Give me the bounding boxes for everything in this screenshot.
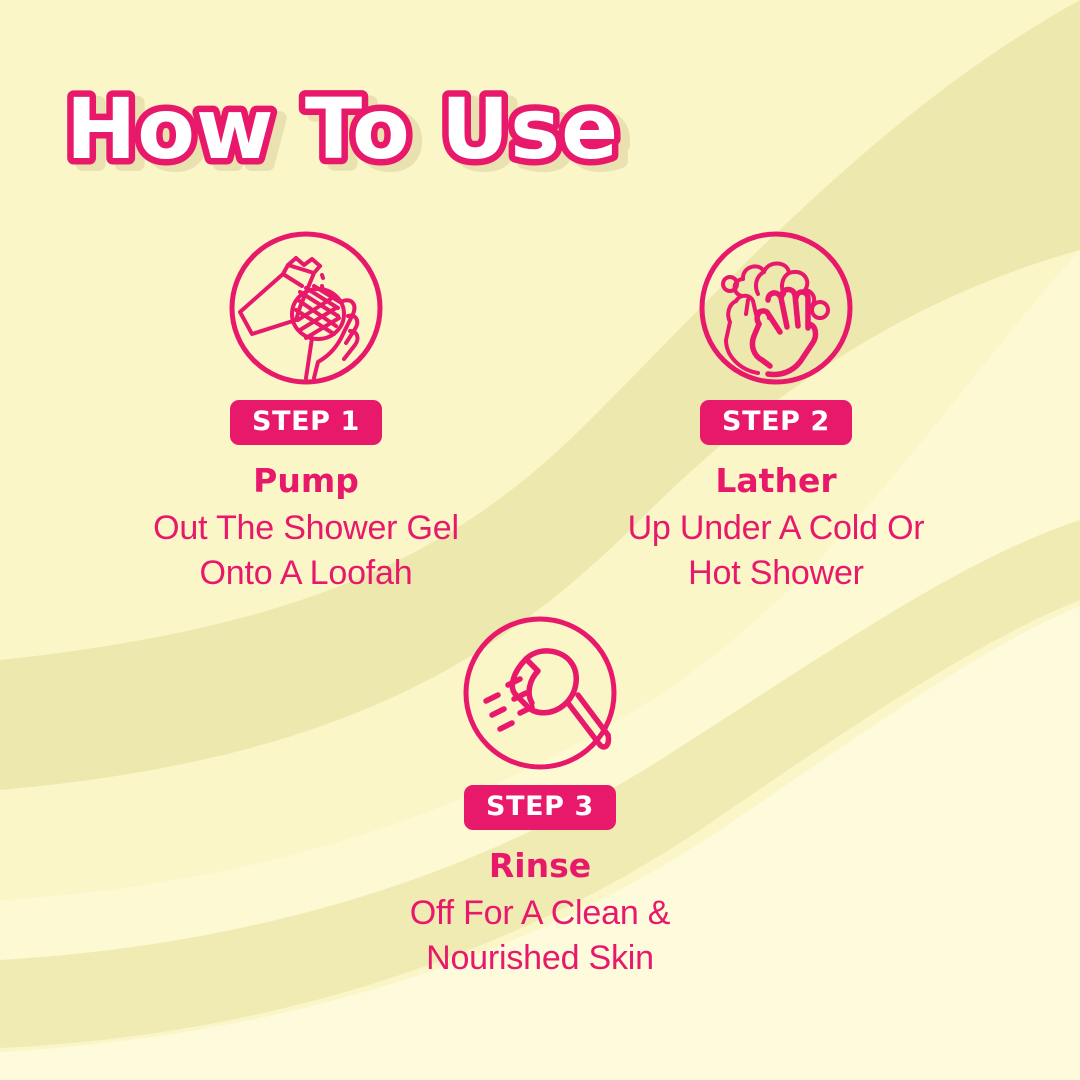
how-to-use-poster: How To Use How To Use bbox=[0, 0, 1080, 1080]
pump-bottle-loofah-icon bbox=[226, 228, 386, 388]
step-description-3-line-2: Nourished Skin bbox=[320, 936, 760, 981]
page-title: How To Use How To Use bbox=[66, 76, 766, 186]
step-title-3: Rinse bbox=[320, 848, 760, 884]
step-description-3-line-1: Off For A Clean & bbox=[320, 891, 760, 936]
lathering-hands-icon bbox=[696, 228, 856, 388]
step-card-2: STEP 2 Lather Up Under A Cold Or Hot Sho… bbox=[556, 228, 996, 596]
page-title-graphic: How To Use How To Use bbox=[66, 76, 766, 196]
step-card-1: STEP 1 Pump Out The Shower Gel Onto A Lo… bbox=[86, 228, 526, 596]
step-description-1-line-1: Out The Shower Gel bbox=[86, 506, 526, 551]
step-badge-1[interactable]: STEP 1 bbox=[230, 400, 382, 445]
step-description-1: Out The Shower Gel Onto A Loofah bbox=[86, 506, 526, 596]
shower-head-icon bbox=[460, 613, 620, 773]
step-description-2-line-2: Hot Shower bbox=[556, 551, 996, 596]
step-title-2: Lather bbox=[556, 463, 996, 499]
step-description-3: Off For A Clean & Nourished Skin bbox=[320, 891, 760, 981]
step-description-2: Up Under A Cold Or Hot Shower bbox=[556, 506, 996, 596]
step-badge-2[interactable]: STEP 2 bbox=[700, 400, 852, 445]
step-description-2-line-1: Up Under A Cold Or bbox=[556, 506, 996, 551]
page-title-text: How To Use bbox=[66, 80, 619, 178]
step-title-1: Pump bbox=[86, 463, 526, 499]
step-badge-3[interactable]: STEP 3 bbox=[464, 785, 616, 830]
step-description-1-line-2: Onto A Loofah bbox=[86, 551, 526, 596]
step-card-3: STEP 3 Rinse Off For A Clean & Nourished… bbox=[320, 613, 760, 981]
